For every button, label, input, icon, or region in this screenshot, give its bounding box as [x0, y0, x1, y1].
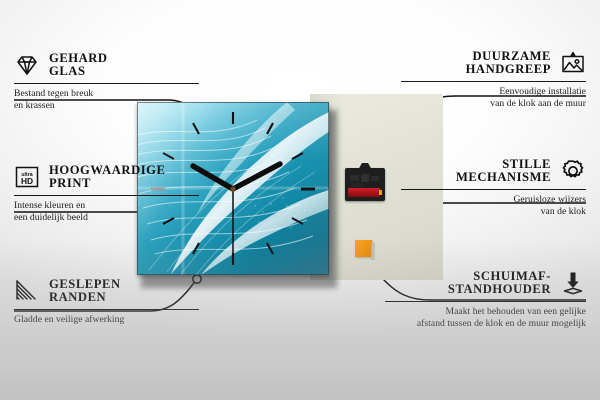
feature-divider	[14, 83, 199, 84]
press-down-icon	[560, 270, 586, 296]
feature-desc-line2: afstand tussen de klok en de muur mogeli…	[385, 318, 586, 330]
feature-title-line1: STILLE	[456, 158, 551, 171]
feature-divider	[385, 301, 586, 302]
feature-description: Gladde en veilige afwerking	[14, 314, 199, 326]
diamond-icon	[14, 52, 40, 78]
framed-picture-icon	[560, 50, 586, 76]
feature-title: GESLEPEN RANDEN	[49, 278, 121, 305]
feature-title-line2: GLAS	[49, 65, 108, 78]
feature-heading: DUURZAME HANDGREEP	[401, 50, 586, 77]
feature-title: STILLE MECHANISME	[456, 158, 551, 185]
feature-desc-line2: een duidelijk beeld	[14, 212, 199, 224]
feature-geslepen-randen: GESLEPEN RANDEN Gladde en veilige afwerk…	[14, 278, 199, 326]
feature-title-line1: DUURZAME	[466, 50, 551, 63]
movement-detail	[349, 174, 381, 188]
feature-hoogwaardige-print: ultra HD HOOGWAARDIGE PRINT Intense kleu…	[14, 164, 199, 225]
feature-stille-mechanisme: STILLE MECHANISME Geruisloze wijzers van…	[401, 158, 586, 219]
feature-title-line1: HOOGWAARDIGE	[49, 164, 165, 177]
feature-desc-line1: Intense kleuren en	[14, 200, 199, 212]
feature-desc-line1: Maakt het behouden van een gelijke	[385, 306, 586, 318]
feature-title: DUURZAME HANDGREEP	[466, 50, 551, 77]
feature-description: Geruisloze wijzers van de klok	[401, 194, 586, 219]
feature-title-line2: STANDHOUDER	[448, 283, 551, 296]
feature-title-line2: HANDGREEP	[466, 63, 551, 76]
feature-desc-line1: Gladde en veilige afwerking	[14, 314, 199, 326]
svg-text:HD: HD	[21, 176, 33, 186]
feature-heading: SCHUIMAF- STANDHOUDER	[385, 270, 586, 297]
gear-icon	[560, 158, 586, 184]
feature-gehard-glas: GEHARD GLAS Bestand tegen breuk en krass…	[14, 52, 199, 113]
feature-title: GEHARD GLAS	[49, 52, 108, 79]
feature-title-line2: PRINT	[49, 177, 165, 190]
feature-title-line2: MECHANISME	[456, 171, 551, 184]
feature-divider	[401, 81, 586, 82]
feature-heading: GESLEPEN RANDEN	[14, 278, 199, 305]
feature-title-line1: GESLEPEN	[49, 278, 121, 291]
feature-description: Eenvoudige installatie van de klok aan d…	[401, 86, 586, 111]
foam-spacer	[355, 240, 372, 257]
infographic-canvas: GEHARD GLAS Bestand tegen breuk en krass…	[0, 0, 600, 400]
feature-divider	[401, 189, 586, 190]
feature-description: Maakt het behouden van een gelijke afsta…	[385, 306, 586, 331]
feature-desc-line2: van de klok	[401, 206, 586, 218]
movement-battery	[348, 188, 380, 197]
feature-desc-line1: Geruisloze wijzers	[401, 194, 586, 206]
feature-heading: ultra HD HOOGWAARDIGE PRINT	[14, 164, 199, 191]
feature-title: SCHUIMAF- STANDHOUDER	[448, 270, 551, 297]
bevelled-edge-icon	[14, 278, 40, 304]
feature-divider	[14, 309, 199, 310]
feature-title-line1: SCHUIMAF-	[448, 270, 551, 283]
feature-heading: STILLE MECHANISME	[401, 158, 586, 185]
feature-desc-line1: Eenvoudige installatie	[401, 86, 586, 98]
feature-desc-line2: en krassen	[14, 100, 199, 112]
feature-duurzame-handgreep: DUURZAME HANDGREEP Eenvoudige installati…	[401, 50, 586, 111]
feature-desc-line1: Bestand tegen breuk	[14, 88, 199, 100]
clock-movement	[345, 168, 385, 201]
feature-description: Intense kleuren en een duidelijk beeld	[14, 200, 199, 225]
feature-title-line1: GEHARD	[49, 52, 108, 65]
feature-schuimafstandhouder: SCHUIMAF- STANDHOUDER Maakt het behouden…	[385, 270, 586, 331]
ultra-hd-icon: ultra HD	[14, 164, 40, 190]
feature-desc-line2: van de klok aan de muur	[401, 98, 586, 110]
feature-title: HOOGWAARDIGE PRINT	[49, 164, 165, 191]
feature-heading: GEHARD GLAS	[14, 52, 199, 79]
feature-divider	[14, 195, 199, 196]
feature-description: Bestand tegen breuk en krassen	[14, 88, 199, 113]
feature-title-line2: RANDEN	[49, 291, 121, 304]
